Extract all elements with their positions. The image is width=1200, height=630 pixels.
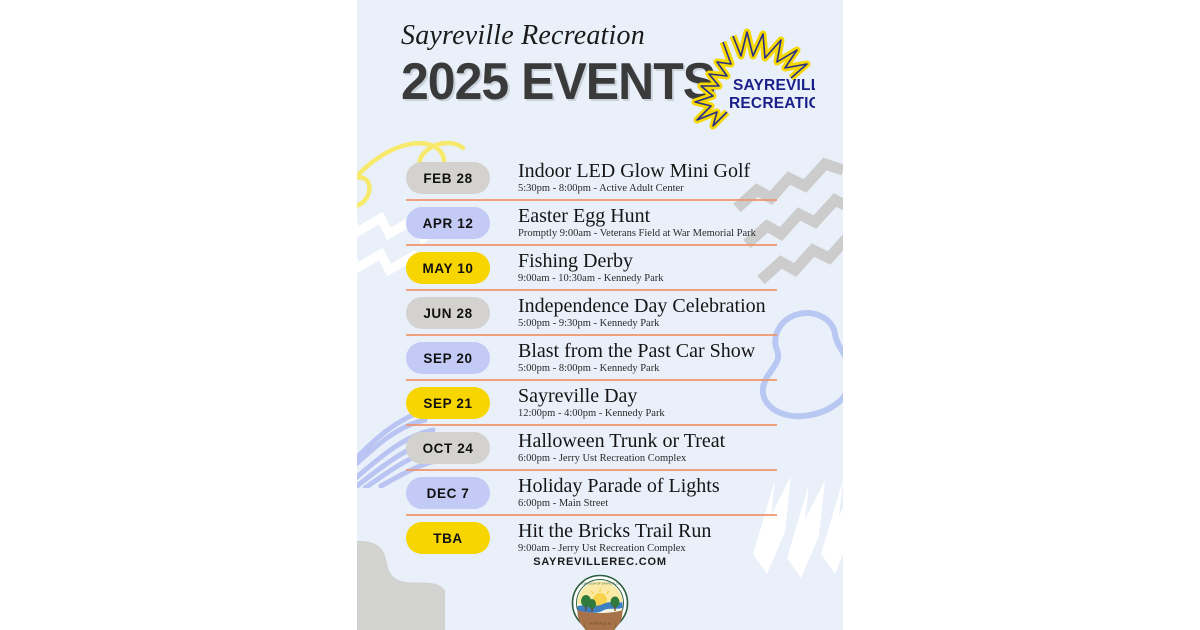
logo-line-2: RECREATION [729, 95, 815, 112]
event-row[interactable]: SEP 20 Blast from the Past Car Show 5:00… [357, 338, 843, 378]
event-name: Easter Egg Hunt [518, 206, 756, 227]
event-row[interactable]: JUN 28 Independence Day Celebration 5:00… [357, 293, 843, 333]
row-divider [406, 334, 777, 336]
event-name: Sayreville Day [518, 386, 665, 407]
event-detail: Promptly 9:00am - Veterans Field at War … [518, 228, 756, 240]
event-detail: 5:00pm - 8:00pm - Kennedy Park [518, 363, 755, 375]
event-date-badge: MAY 10 [406, 252, 490, 284]
event-date-badge: OCT 24 [406, 432, 490, 464]
event-name: Blast from the Past Car Show [518, 341, 755, 362]
event-detail: 5:30pm - 8:00pm - Active Adult Center [518, 183, 750, 195]
event-detail: 5:00pm - 9:30pm - Kennedy Park [518, 318, 766, 330]
event-date-badge: APR 12 [406, 207, 490, 239]
event-date-badge: SEP 20 [406, 342, 490, 374]
seal-top-text: BOROUGH OF SAYREVILLE [580, 582, 619, 586]
event-detail: 6:00pm - Main Street [518, 498, 720, 510]
row-divider [406, 469, 777, 471]
event-name: Holiday Parade of Lights [518, 476, 720, 497]
event-name: Independence Day Celebration [518, 296, 766, 317]
event-row[interactable]: TBA Hit the Bricks Trail Run 9:00am - Je… [357, 518, 843, 558]
row-divider [406, 514, 777, 516]
event-row[interactable]: DEC 7 Holiday Parade of Lights 6:00pm - … [357, 473, 843, 513]
event-date-badge: DEC 7 [406, 477, 490, 509]
header-text-block: Sayreville Recreation 2025 EVENTS [401, 22, 681, 108]
event-name: Fishing Derby [518, 251, 664, 272]
row-divider [406, 244, 777, 246]
event-date-badge: SEP 21 [406, 387, 490, 419]
event-detail: 9:00am - Jerry Ust Recreation Complex [518, 543, 711, 555]
sayreville-recreation-logo: SAYREVILLE RECREATION [687, 28, 815, 132]
event-name: Indoor LED Glow Mini Golf [518, 161, 750, 182]
row-divider [406, 289, 777, 291]
row-divider [406, 379, 777, 381]
poster-footer: SAYREVILLEREC.COM [357, 556, 843, 630]
event-date-badge: FEB 28 [406, 162, 490, 194]
events-list: FEB 28 Indoor LED Glow Mini Golf 5:30pm … [357, 158, 843, 563]
seal-bottom-text: SAYREVILLE NJ [588, 621, 612, 625]
borough-seal-icon: SAYREVILLE NJ BOROUGH OF SAYREVILLE [571, 574, 629, 630]
event-detail: 9:00am - 10:30am - Kennedy Park [518, 273, 664, 285]
logo-line-1: SAYREVILLE [733, 77, 815, 94]
event-row[interactable]: FEB 28 Indoor LED Glow Mini Golf 5:30pm … [357, 158, 843, 198]
event-row[interactable]: MAY 10 Fishing Derby 9:00am - 10:30am - … [357, 248, 843, 288]
event-name: Hit the Bricks Trail Run [518, 521, 711, 542]
event-row[interactable]: SEP 21 Sayreville Day 12:00pm - 4:00pm -… [357, 383, 843, 423]
page-title: 2025 EVENTS [401, 56, 670, 108]
row-divider [406, 424, 777, 426]
poster-header: Sayreville Recreation 2025 EVENTS SAYREV… [357, 0, 843, 148]
event-date-badge: JUN 28 [406, 297, 490, 329]
event-name: Halloween Trunk or Treat [518, 431, 725, 452]
screenshot-canvas: Sayreville Recreation 2025 EVENTS SAYREV… [0, 0, 1200, 630]
event-date-badge: TBA [406, 522, 490, 554]
events-poster: Sayreville Recreation 2025 EVENTS SAYREV… [357, 0, 843, 630]
event-detail: 12:00pm - 4:00pm - Kennedy Park [518, 408, 665, 420]
event-row[interactable]: OCT 24 Halloween Trunk or Treat 6:00pm -… [357, 428, 843, 468]
event-row[interactable]: APR 12 Easter Egg Hunt Promptly 9:00am -… [357, 203, 843, 243]
row-divider [406, 199, 777, 201]
website-url[interactable]: SAYREVILLEREC.COM [533, 556, 667, 568]
event-detail: 6:00pm - Jerry Ust Recreation Complex [518, 453, 725, 465]
script-title: Sayreville Recreation [401, 22, 681, 50]
